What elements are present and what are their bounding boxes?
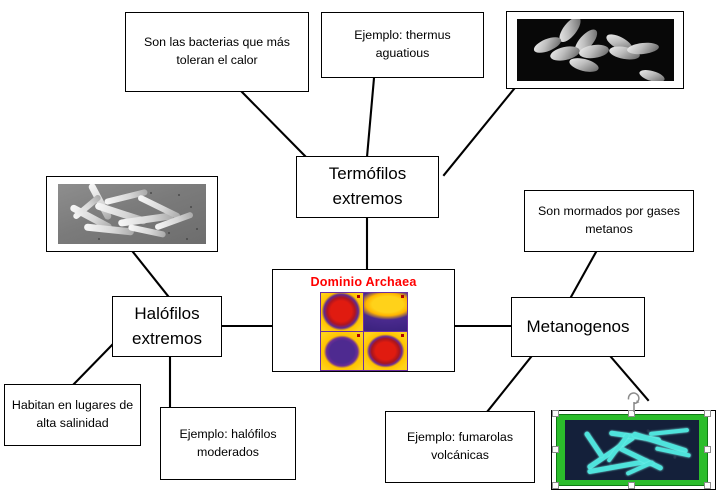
- micrograph-quadrant-1: [321, 293, 363, 331]
- selection-handle-sw[interactable]: [552, 482, 559, 489]
- micrograph-quadrant-4: [364, 332, 406, 370]
- node-metanogenos-label: Metanogenos: [520, 315, 635, 340]
- node-metano-desc-label: Son mormados por gases metanos: [525, 203, 693, 239]
- node-termofilos-label: Termófilos extremos: [297, 162, 438, 211]
- archaea-micrograph-grid: [320, 292, 408, 371]
- node-center-dominio-archaea[interactable]: Dominio Archaea: [272, 269, 455, 372]
- micrograph-quadrant-3: [321, 332, 363, 370]
- node-halo-desc-label: Habitan en lugares de alta salinidad: [5, 397, 140, 433]
- node-halo-desc[interactable]: Habitan en lugares de alta salinidad: [4, 384, 141, 446]
- node-termo-ejemplo-label: Ejemplo: thermus aguatious: [322, 27, 483, 63]
- selection-handle-se[interactable]: [704, 482, 711, 489]
- node-halo-ejemplo[interactable]: Ejemplo: halófilos moderados: [160, 407, 296, 480]
- mindmap-canvas: Son las bacterias que más toleran el cal…: [0, 0, 722, 494]
- methanogen-photo-image: [565, 420, 699, 480]
- link-metano-desc: [571, 252, 596, 297]
- node-metano-ejemplo-label: Ejemplo: fumarolas volcánicas: [386, 429, 534, 465]
- selection-handle-e[interactable]: [704, 446, 711, 453]
- thermus-sem-dark-image: [517, 19, 674, 81]
- link-halo-desc: [73, 345, 112, 385]
- node-termo-ejemplo[interactable]: Ejemplo: thermus aguatious: [321, 12, 484, 78]
- node-halo-foto[interactable]: [46, 176, 218, 252]
- selected-picture[interactable]: [556, 414, 708, 486]
- node-halofilos-label: Halófilos extremos: [113, 302, 221, 351]
- node-halo-ejemplo-label: Ejemplo: halófilos moderados: [161, 426, 295, 462]
- halophile-sem-gray-image: [58, 184, 206, 244]
- link-metano-ejemplo: [487, 357, 531, 412]
- node-termofilos[interactable]: Termófilos extremos: [296, 156, 439, 218]
- node-termo-foto[interactable]: [506, 11, 684, 89]
- link-halo-foto: [133, 252, 168, 296]
- link-termo-foto: [444, 89, 514, 175]
- rotate-handle-icon[interactable]: [624, 392, 644, 414]
- node-metano-desc[interactable]: Son mormados por gases metanos: [524, 190, 694, 252]
- selection-handle-ne[interactable]: [704, 410, 711, 417]
- selection-handle-s[interactable]: [628, 482, 635, 489]
- node-metanogenos[interactable]: Metanogenos: [511, 297, 645, 357]
- node-termo-desc[interactable]: Son las bacterias que más toleran el cal…: [125, 12, 309, 92]
- link-termo-desc: [242, 92, 306, 157]
- link-termo-ejemplo: [367, 78, 374, 157]
- center-title: Dominio Archaea: [310, 275, 416, 289]
- node-metano-ejemplo[interactable]: Ejemplo: fumarolas volcánicas: [385, 411, 535, 483]
- node-termo-desc-label: Son las bacterias que más toleran el cal…: [126, 34, 308, 70]
- micrograph-quadrant-2: [364, 293, 406, 331]
- selection-handle-nw[interactable]: [552, 410, 559, 417]
- selection-handle-w[interactable]: [552, 446, 559, 453]
- node-halofilos[interactable]: Halófilos extremos: [112, 296, 222, 357]
